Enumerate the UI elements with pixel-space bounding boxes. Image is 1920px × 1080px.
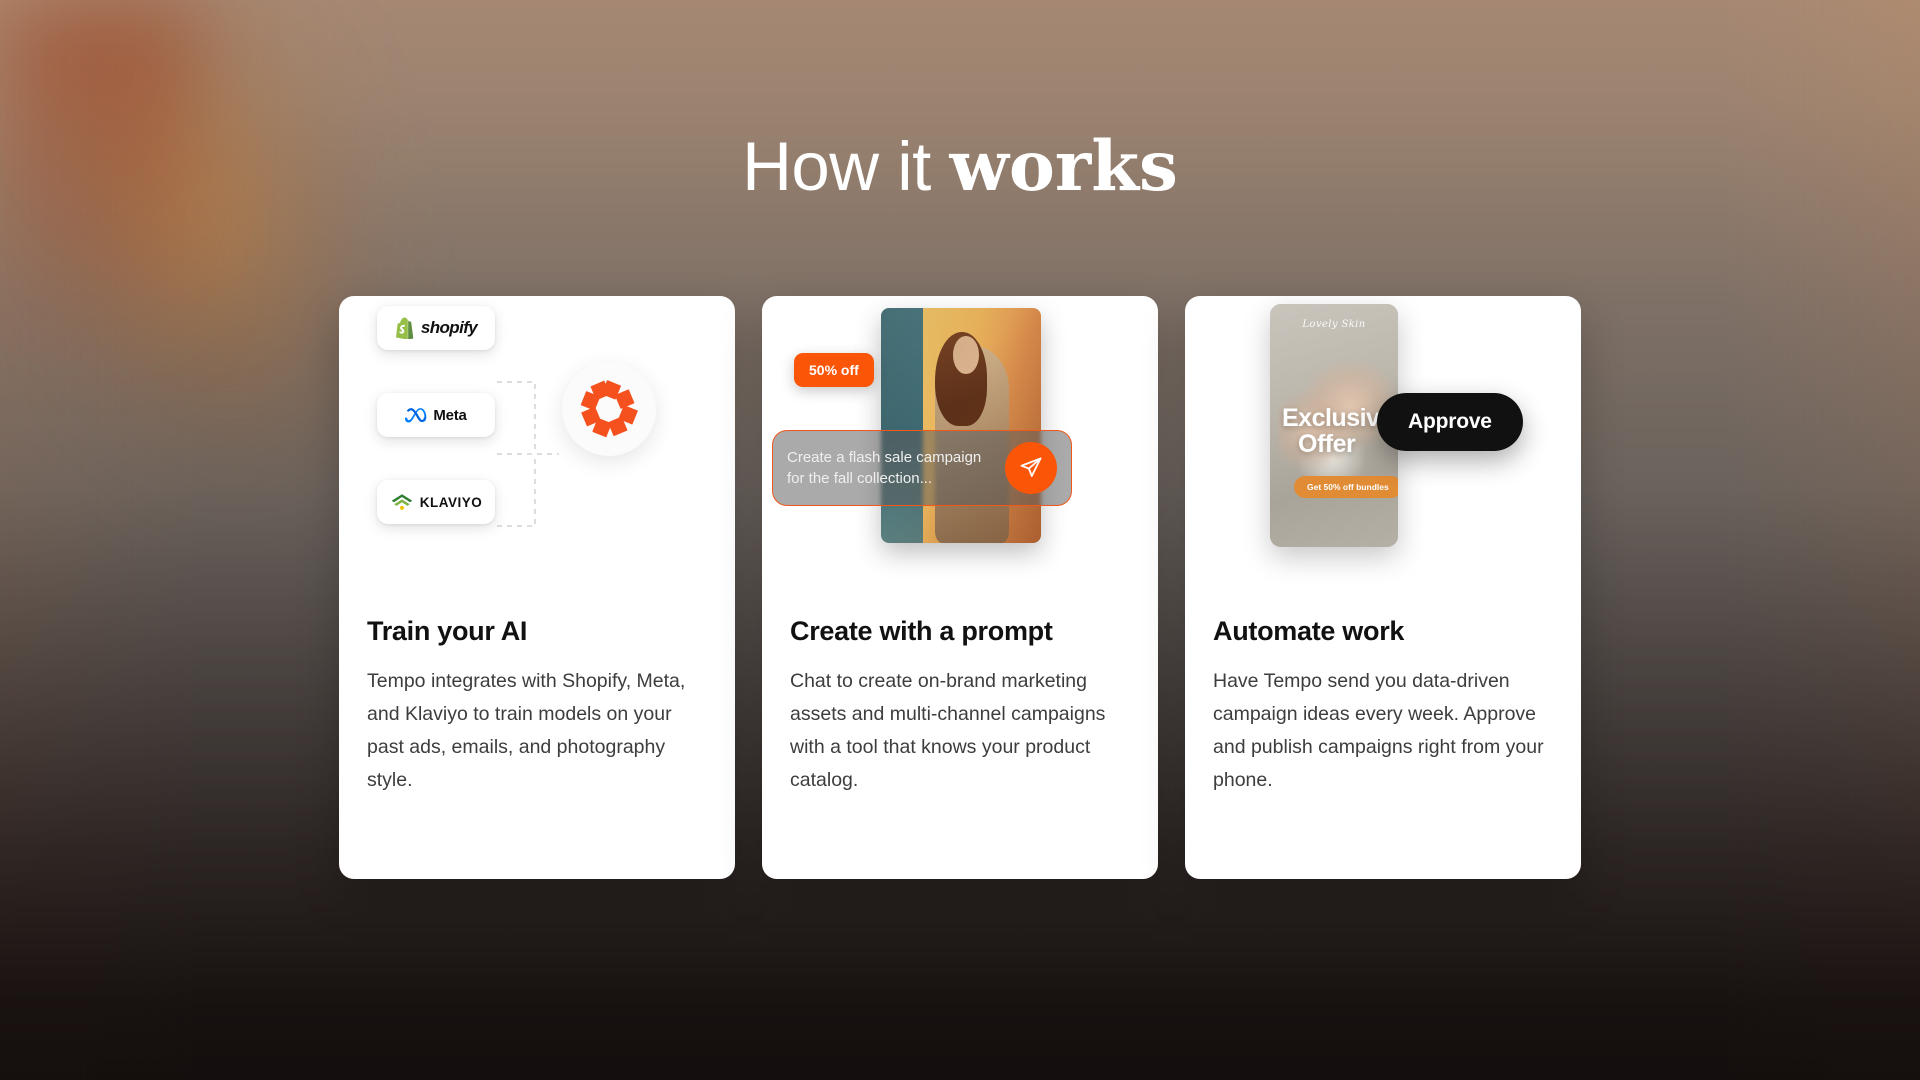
feature-card-automate-work: Lovely Skin Exclusive Offer Get 50% off … xyxy=(1185,296,1581,879)
integration-chip-label: KLAVIYO xyxy=(420,495,483,510)
integration-chip-label: Meta xyxy=(433,407,466,424)
integration-chip-label: shopify xyxy=(421,318,477,338)
card-body: Have Tempo send you data-driven campaign… xyxy=(1213,665,1553,797)
integration-chip-klaviyo[interactable]: KLAVIYO xyxy=(377,480,495,524)
shopify-bag-icon xyxy=(395,317,415,339)
page-title-accent: works xyxy=(949,126,1177,207)
feature-card-create-with-a-prompt: 50% off Create a flash sale campaign for… xyxy=(762,296,1158,879)
integration-chip-shopify[interactable]: shopify xyxy=(377,306,495,350)
creative-headline-line2: Offer xyxy=(1282,431,1390,457)
approve-button[interactable]: Approve xyxy=(1377,393,1523,451)
page-title: How it works xyxy=(742,132,1178,201)
paper-plane-icon xyxy=(1019,456,1043,480)
page-background: How it works xyxy=(0,0,1920,1080)
klaviyo-chevron-icon xyxy=(390,493,414,511)
card-visual-integrations: shopify Meta xyxy=(339,296,735,616)
card-visual-automate: Lovely Skin Exclusive Offer Get 50% off … xyxy=(1185,296,1581,616)
card-body: Tempo integrates with Shopify, Meta, and… xyxy=(367,665,707,797)
discount-badge: 50% off xyxy=(794,353,874,387)
feature-card-train-your-ai: shopify Meta xyxy=(339,296,735,879)
card-text-train-your-ai: Train your AI Tempo integrates with Shop… xyxy=(339,616,735,797)
prompt-input-bar[interactable]: Create a flash sale campaign for the fal… xyxy=(772,430,1072,506)
send-button[interactable] xyxy=(1005,442,1057,494)
card-body: Chat to create on-brand marketing assets… xyxy=(790,665,1130,797)
card-title: Create with a prompt xyxy=(790,616,1130,647)
prompt-input-value[interactable]: Create a flash sale campaign for the fal… xyxy=(787,447,1005,489)
page-title-plain: How it xyxy=(742,128,949,205)
creative-brand-name: Lovely Skin xyxy=(1270,319,1398,330)
feature-card-row: shopify Meta xyxy=(339,296,1581,879)
how-it-works-section: How it works xyxy=(0,0,1920,1080)
card-text-create-with-a-prompt: Create with a prompt Chat to create on-b… xyxy=(762,616,1158,797)
photo-shading xyxy=(881,308,1041,543)
card-title: Train your AI xyxy=(367,616,707,647)
meta-infinity-icon xyxy=(405,408,427,423)
fashion-model-photo xyxy=(881,308,1041,543)
card-title: Automate work xyxy=(1213,616,1553,647)
card-visual-prompt: 50% off Create a flash sale campaign for… xyxy=(762,296,1158,616)
creative-headline: Exclusive Offer xyxy=(1282,405,1390,457)
tempo-pinwheel-logo xyxy=(580,380,638,438)
tempo-logo-hub xyxy=(562,362,656,456)
integration-chip-meta[interactable]: Meta xyxy=(377,393,495,437)
card-text-automate-work: Automate work Have Tempo send you data-d… xyxy=(1185,616,1581,797)
creative-cta-button[interactable]: Get 50% off bundles xyxy=(1294,476,1398,498)
